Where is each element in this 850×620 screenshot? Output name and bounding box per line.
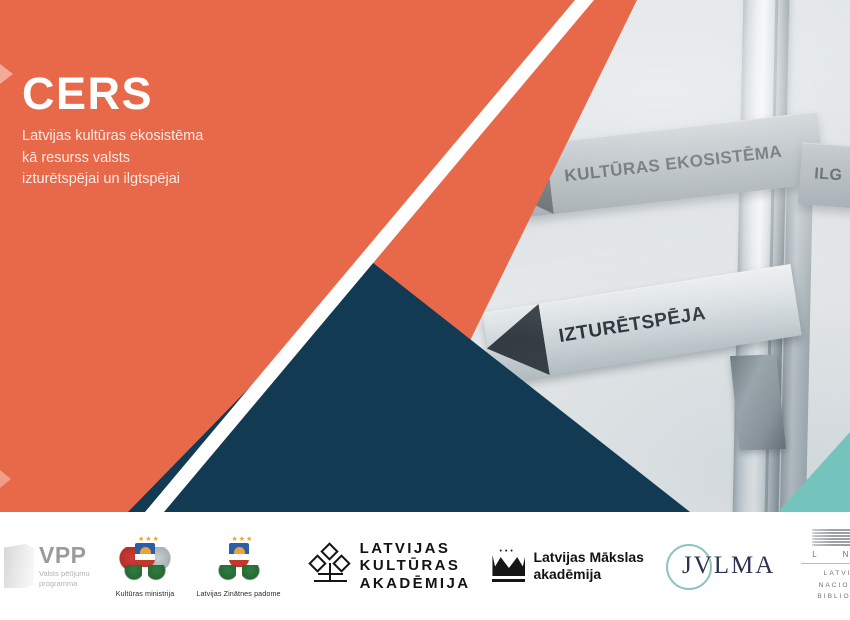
logo-vpp[interactable]: VPP Valsts pētījumu programma bbox=[4, 544, 90, 589]
sign-arrow-ilgtspeja: ILG bbox=[798, 142, 850, 219]
logo-latvijas-makslas-akademija[interactable]: ••• Latvijas Mākslas akadēmija bbox=[492, 548, 644, 584]
project-subtitle: Latvijas kultūras ekosistēma kā resurss … bbox=[22, 126, 203, 190]
coa-sun-icon bbox=[234, 547, 245, 554]
coa-wreath-right-icon bbox=[148, 565, 168, 583]
sign-label: ILG bbox=[814, 165, 843, 185]
signpost-mast bbox=[732, 0, 789, 512]
subtitle-line-2: kā resurss valsts bbox=[22, 148, 203, 169]
lka-line-1: LATVIJAS bbox=[360, 540, 471, 557]
jvlma-abbr: JVLMA bbox=[670, 552, 775, 580]
sign-label: IZTURĒTSPĒJA bbox=[557, 303, 707, 348]
coa-wreath-left-icon bbox=[216, 565, 236, 583]
signpost-fixture bbox=[730, 354, 786, 450]
subtitle-line-1: Latvijas kultūras ekosistēma bbox=[22, 126, 203, 147]
lma-line-1: Latvijas Mākslas bbox=[533, 549, 644, 566]
sign-arrow-izturetspeja: IZTURĒTSPĒJA bbox=[482, 264, 801, 384]
logo-caption: Latvijas Zinātnes padome bbox=[196, 589, 280, 598]
sign-label: KULTŪRAS EKOSISTĒMA bbox=[563, 142, 783, 187]
project-title: CERS bbox=[22, 70, 203, 117]
signpost-mast-seam bbox=[764, 0, 778, 512]
lnb-line-2: NACIONĀLĀ bbox=[801, 580, 850, 592]
coa-wreath-right-icon bbox=[242, 565, 262, 583]
vpp-caption-line-1: Valsts pētījumu bbox=[39, 569, 90, 579]
sign-plank bbox=[482, 264, 801, 384]
lnb-line-1: LATVIJAS bbox=[801, 568, 850, 580]
subtitle-line-3: izturētspējai un ilgtspējai bbox=[22, 169, 203, 190]
hero-banner: KULTŪRAS EKOSISTĒMA ILG IZTURĒTSPĒJA CER… bbox=[0, 0, 850, 512]
vpp-abbr: VPP bbox=[39, 544, 90, 567]
logo-latvijas-zinatnes-padome[interactable]: ★★★ Latvijas Zinātnes padome bbox=[196, 535, 280, 598]
lka-line-2: KULTŪRAS bbox=[360, 557, 471, 574]
lnb-wave-icon bbox=[812, 529, 850, 547]
lka-tree-icon bbox=[309, 545, 351, 587]
logo-kulturas-ministrija[interactable]: ★★★ Kultūras ministrija bbox=[116, 535, 175, 598]
logo-latvijas-nacionala-biblioteka[interactable]: L N B LATVIJAS NACIONĀLĀ BIBLIOTĒKA bbox=[801, 529, 850, 603]
banner-page: KULTŪRAS EKOSISTĒMA ILG IZTURĒTSPĒJA CER… bbox=[0, 0, 850, 620]
logo-latvijas-kulturas-akademija[interactable]: LATVIJAS KULTŪRAS AKADĒMIJA bbox=[309, 540, 471, 592]
lma-dots-icon: ••• bbox=[499, 548, 515, 555]
lka-line-3: AKADĒMIJA bbox=[360, 575, 471, 592]
latvia-coat-of-arms-icon: ★★★ bbox=[212, 535, 266, 585]
coa-stars-icon: ★★★ bbox=[232, 535, 248, 543]
sign-plank bbox=[798, 142, 850, 219]
logo-jvlma[interactable]: JVLMA bbox=[670, 552, 775, 580]
headline-block: CERS Latvijas kultūras ekosistēma kā res… bbox=[22, 70, 203, 191]
lma-line-2: akadēmija bbox=[533, 566, 644, 583]
lnb-line-3: BIBLIOTĒKA bbox=[801, 591, 850, 603]
vpp-mark-icon bbox=[4, 544, 34, 588]
partner-logo-bar: VPP Valsts pētījumu programma ★★★ Kultūr… bbox=[0, 512, 850, 620]
signpost-mast-secondary bbox=[780, 120, 814, 512]
coa-stars-icon: ★★★ bbox=[138, 535, 154, 543]
coa-wreath-left-icon bbox=[122, 565, 142, 583]
logo-caption: Kultūras ministrija bbox=[116, 589, 175, 598]
vpp-caption-line-2: programma bbox=[39, 579, 90, 589]
lma-crown-icon: ••• bbox=[492, 548, 525, 584]
latvia-coat-of-arms-icon: ★★★ bbox=[118, 535, 172, 585]
lnb-abbr: L N B bbox=[801, 550, 850, 564]
